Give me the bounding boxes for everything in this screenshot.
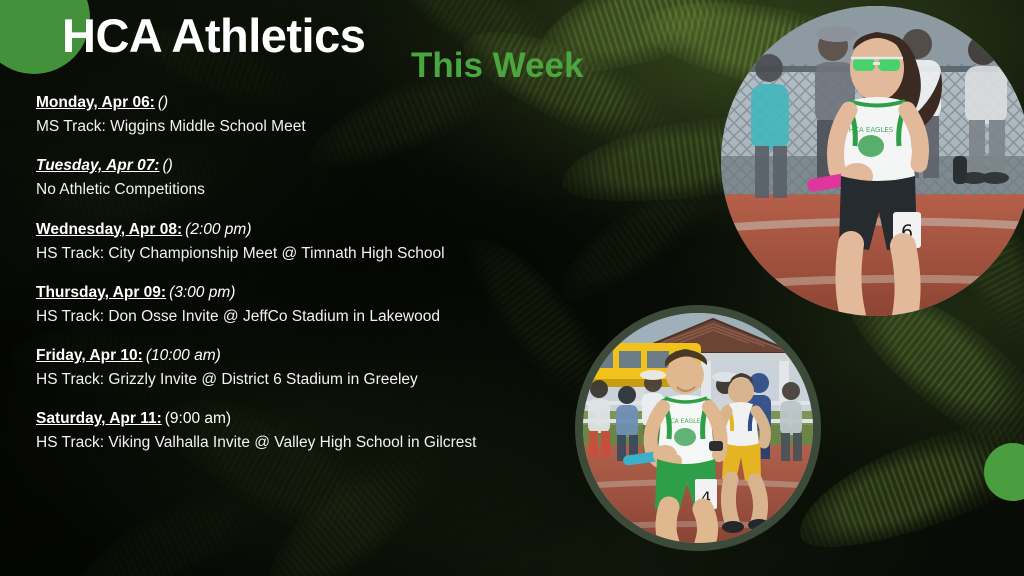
photo-male-runner: HCA EAGLES 4 <box>583 313 813 543</box>
athletics-weekly-slide: HCA Athletics This Week Monday, Apr 06:(… <box>0 0 1024 576</box>
schedule-entry-thursday: Thursday, Apr 09:(3:00 pm) HS Track: Don… <box>36 282 596 328</box>
schedule-entry-wednesday: Wednesday, Apr 08:(2:00 pm) HS Track: Ci… <box>36 219 596 265</box>
page-subtitle: This Week <box>411 48 583 83</box>
svg-text:HCA EAGLES: HCA EAGLES <box>849 126 894 134</box>
schedule-event-detail: HS Track: Don Osse Invite @ JeffCo Stadi… <box>36 305 596 328</box>
schedule-event-detail: No Athletic Competitions <box>36 178 596 201</box>
schedule-event-detail: MS Track: Wiggins Middle School Meet <box>36 115 596 138</box>
schedule-day-label: Monday, Apr 06: <box>36 94 155 111</box>
schedule-entry-header: Wednesday, Apr 08:(2:00 pm) <box>36 219 596 241</box>
schedule-entry-header: Monday, Apr 06:() <box>36 92 596 114</box>
schedule-event-detail: HS Track: Grizzly Invite @ District 6 St… <box>36 368 596 391</box>
title-block: HCA Athletics <box>62 12 365 59</box>
schedule-entry-saturday: Saturday, Apr 11:(9:00 am) HS Track: Vik… <box>36 408 596 454</box>
schedule-time-label: (3:00 pm) <box>169 284 235 301</box>
schedule-entry-header: Saturday, Apr 11:(9:00 am) <box>36 408 596 430</box>
schedule-time-label: (2:00 pm) <box>185 221 251 238</box>
schedule-day-label: Friday, Apr 10: <box>36 347 143 364</box>
schedule-event-detail: HS Track: City Championship Meet @ Timna… <box>36 242 596 265</box>
schedule-time-label: (10:00 am) <box>146 347 221 364</box>
schedule-day-label: Tuesday, Apr 07: <box>36 157 159 174</box>
schedule-entry-header: Tuesday, Apr 07:() <box>36 155 596 177</box>
schedule-entry-header: Friday, Apr 10:(10:00 am) <box>36 345 596 367</box>
page-title: HCA Athletics <box>62 12 365 59</box>
schedule-time-label: () <box>158 94 168 111</box>
svg-text:HCA EAGLES: HCA EAGLES <box>666 418 704 425</box>
schedule-entry-monday: Monday, Apr 06:() MS Track: Wiggins Midd… <box>36 92 596 138</box>
schedule-entry-header: Thursday, Apr 09:(3:00 pm) <box>36 282 596 304</box>
photo-female-runner: HCA EAGLES 6 <box>721 6 1024 316</box>
schedule-day-label: Thursday, Apr 09: <box>36 284 166 301</box>
schedule-day-label: Saturday, Apr 11: <box>36 410 162 427</box>
schedule-entry-friday: Friday, Apr 10:(10:00 am) HS Track: Griz… <box>36 345 596 391</box>
weekly-schedule-list: Monday, Apr 06:() MS Track: Wiggins Midd… <box>36 92 596 455</box>
schedule-event-detail: HS Track: Viking Valhalla Invite @ Valle… <box>36 431 596 454</box>
schedule-time-label: (9:00 am) <box>165 410 231 427</box>
schedule-time-label: () <box>162 157 172 174</box>
schedule-entry-tuesday: Tuesday, Apr 07:() No Athletic Competiti… <box>36 155 596 201</box>
schedule-day-label: Wednesday, Apr 08: <box>36 221 182 238</box>
